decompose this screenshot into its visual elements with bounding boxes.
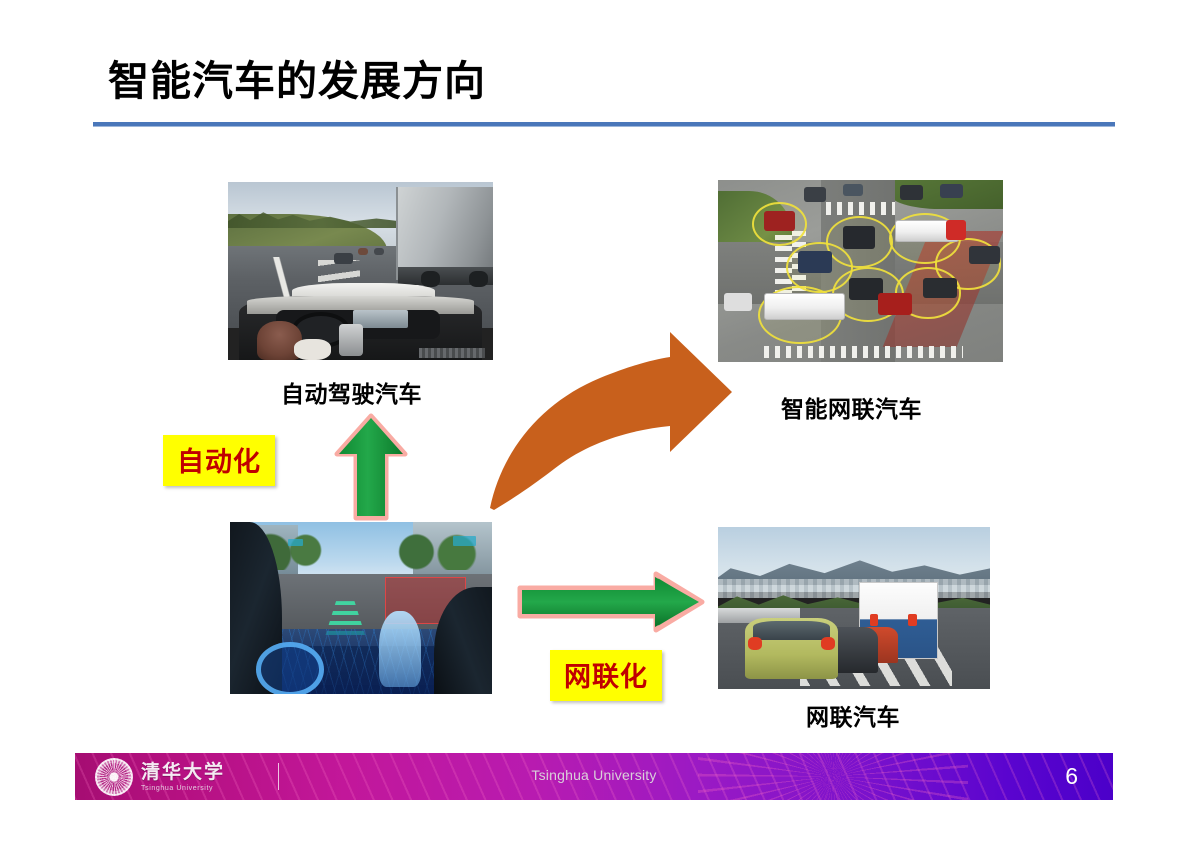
title-divider-secondary [93, 126, 1115, 127]
caption-connected-vehicle: 网联汽车 [806, 698, 900, 732]
logo-label-en: Tsinghua University [141, 785, 225, 792]
caption-autonomous-driving-car: 自动驾驶汽车 [281, 375, 422, 409]
photo-autonomous-driving-car [228, 182, 493, 360]
photo-connected-vehicle-platoon [718, 527, 990, 689]
slide-footer: 清华大学 Tsinghua University Tsinghua Univer… [75, 753, 1113, 800]
caption-intelligent-connected-vehicle: 智能网联汽车 [781, 390, 922, 424]
badge-connectivity: 网联化 [550, 650, 662, 701]
footer-center-text: Tsinghua University [75, 767, 1113, 783]
badge-automation: 自动化 [163, 435, 275, 486]
arrow-curved-synthesis-icon [480, 330, 742, 512]
photo-connected-cockpit-hud [230, 522, 492, 694]
arrow-up-automation-icon [333, 412, 409, 522]
page-number: 6 [1065, 763, 1078, 790]
photo-intelligent-connected-vehicle [718, 180, 1003, 362]
page-title: 智能汽车的发展方向 [108, 47, 486, 107]
arrow-right-connectivity-icon [516, 570, 706, 634]
